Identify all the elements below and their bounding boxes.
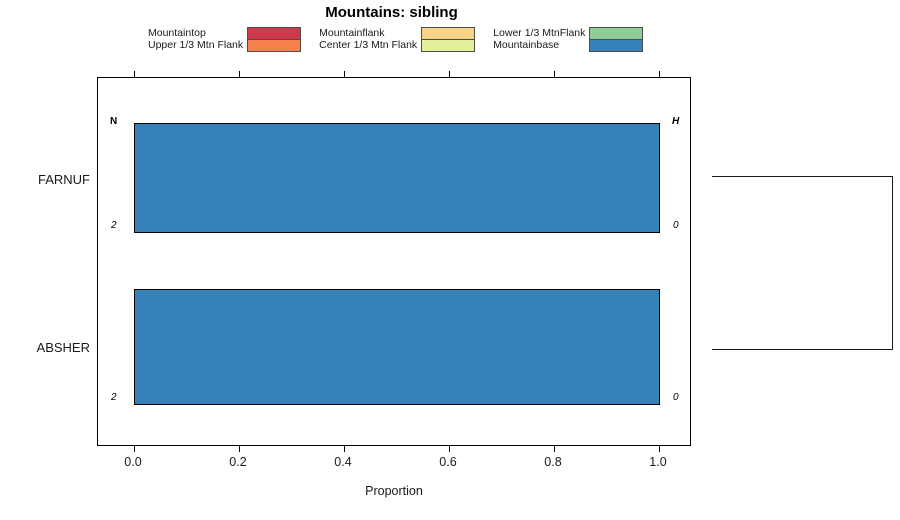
legend-swatch-upper-third-mtn-flank [248,39,300,51]
x-tick-mark-bottom-5 [659,445,660,452]
side-panel [712,176,893,350]
bar-annotation-farnuf-top-left: N [110,116,117,127]
legend-swatch-mountainbase [590,39,642,51]
x-axis-tick-label-2: 0.4 [334,455,351,469]
chart-title: Mountains: sibling [0,4,783,21]
legend-column-1: Mountaintop Upper 1/3 Mtn Flank [148,27,301,52]
legend-item-label-mountainbase: Mountainbase [493,39,585,51]
x-axis-tick-label-3: 0.6 [439,455,456,469]
bar-annotation-farnuf-bottom-left: 2 [111,220,117,231]
x-tick-mark-bottom-0 [134,445,135,452]
legend-swatch-lower-third-mtn-flank [590,28,642,39]
legend-item-label-mountainflank: Mountainflank [319,27,417,39]
x-tick-mark-bottom-3 [449,445,450,452]
plot-panel: N H 2 0 2 0 [97,77,691,446]
legend-column-2: Mountainflank Center 1/3 Mtn Flank [319,27,475,52]
x-tick-mark-top-3 [449,71,450,78]
legend-swatch-mountainflank [422,28,474,39]
legend-swatches-1 [247,27,301,52]
y-axis-label-absher: ABSHER [0,340,90,355]
chart-legend: Mountaintop Upper 1/3 Mtn Flank Mountain… [148,27,661,52]
x-axis-tick-label-0: 0.0 [124,455,141,469]
x-tick-mark-bottom-1 [239,445,240,452]
legend-column-3: Lower 1/3 MtnFlank Mountainbase [493,27,643,52]
x-axis-tick-label-1: 0.2 [229,455,246,469]
legend-swatches-2 [421,27,475,52]
bar-farnuf-mountainbase[interactable] [134,123,660,233]
x-tick-mark-top-4 [554,71,555,78]
legend-labels-1: Mountaintop Upper 1/3 Mtn Flank [148,27,243,51]
legend-item-label-lower-third-mtn-flank: Lower 1/3 MtnFlank [493,27,585,39]
x-tick-mark-bottom-4 [554,445,555,452]
legend-swatch-center-third-mtn-flank [422,39,474,51]
legend-item-label-mountaintop: Mountaintop [148,27,243,39]
x-tick-mark-top-5 [659,71,660,78]
x-tick-mark-top-0 [134,71,135,78]
x-tick-mark-bottom-2 [344,445,345,452]
x-tick-mark-top-1 [239,71,240,78]
bar-annotation-farnuf-top-right: H [672,116,679,127]
x-tick-mark-top-2 [344,71,345,78]
legend-swatch-mountaintop [248,28,300,39]
bar-annotation-farnuf-bottom-right: 0 [673,220,679,231]
legend-labels-3: Lower 1/3 MtnFlank Mountainbase [493,27,585,51]
x-axis-tick-label-5: 1.0 [649,455,666,469]
bar-annotation-absher-bottom-left: 2 [111,392,117,403]
legend-labels-2: Mountainflank Center 1/3 Mtn Flank [319,27,417,51]
legend-item-label-center-third-mtn-flank: Center 1/3 Mtn Flank [319,39,417,51]
y-axis-label-farnuf: FARNUF [0,172,90,187]
x-axis-title: Proportion [97,484,691,498]
bar-absher-mountainbase[interactable] [134,289,660,405]
legend-swatches-3 [589,27,643,52]
legend-item-label-upper-third-mtn-flank: Upper 1/3 Mtn Flank [148,39,243,51]
x-axis-tick-label-4: 0.8 [544,455,561,469]
bar-annotation-absher-bottom-right: 0 [673,392,679,403]
